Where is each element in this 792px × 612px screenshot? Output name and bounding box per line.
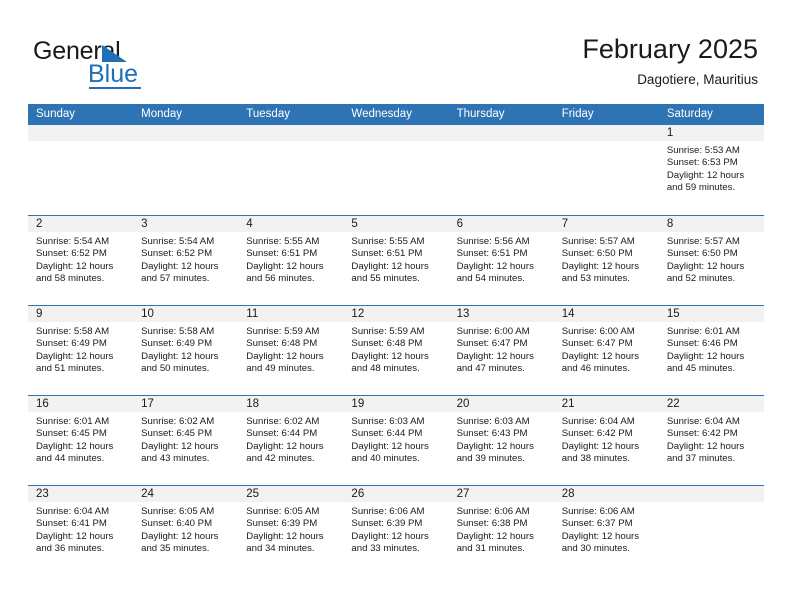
sunrise-text: Sunrise: 6:06 AM — [562, 506, 653, 518]
sunset-text: Sunset: 6:46 PM — [667, 338, 758, 350]
day-cell[interactable]: 12Sunrise: 5:59 AMSunset: 6:48 PMDayligh… — [343, 306, 448, 395]
daylight-text: Daylight: 12 hours and 56 minutes. — [246, 261, 337, 286]
day-number: 1 — [659, 125, 764, 141]
sunset-text: Sunset: 6:48 PM — [351, 338, 442, 350]
daylight-text: Daylight: 12 hours and 47 minutes. — [457, 351, 548, 376]
sunrise-text: Sunrise: 6:02 AM — [141, 416, 232, 428]
sunset-text: Sunset: 6:52 PM — [36, 248, 127, 260]
sunrise-text: Sunrise: 6:00 AM — [457, 326, 548, 338]
day-number — [554, 125, 659, 141]
day-number: 17 — [133, 396, 238, 412]
day-details: Sunrise: 5:59 AMSunset: 6:48 PMDaylight:… — [343, 322, 448, 376]
sunset-text: Sunset: 6:51 PM — [457, 248, 548, 260]
day-details: Sunrise: 6:02 AMSunset: 6:44 PMDaylight:… — [238, 412, 343, 466]
sunrise-text: Sunrise: 5:55 AM — [246, 236, 337, 248]
sunrise-text: Sunrise: 6:04 AM — [36, 506, 127, 518]
day-details: Sunrise: 6:01 AMSunset: 6:46 PMDaylight:… — [659, 322, 764, 376]
sunset-text: Sunset: 6:50 PM — [667, 248, 758, 260]
sunset-text: Sunset: 6:44 PM — [246, 428, 337, 440]
day-cell[interactable]: 18Sunrise: 6:02 AMSunset: 6:44 PMDayligh… — [238, 396, 343, 485]
daylight-text: Daylight: 12 hours and 59 minutes. — [667, 170, 758, 195]
day-number: 20 — [449, 396, 554, 412]
sunrise-text: Sunrise: 6:03 AM — [351, 416, 442, 428]
day-number — [343, 125, 448, 141]
day-number: 9 — [28, 306, 133, 322]
day-details: Sunrise: 5:54 AMSunset: 6:52 PMDaylight:… — [28, 232, 133, 286]
day-number: 14 — [554, 306, 659, 322]
sunrise-text: Sunrise: 5:54 AM — [36, 236, 127, 248]
day-number: 3 — [133, 216, 238, 232]
day-details: Sunrise: 5:58 AMSunset: 6:49 PMDaylight:… — [133, 322, 238, 376]
day-details: Sunrise: 6:06 AMSunset: 6:38 PMDaylight:… — [449, 502, 554, 556]
weekday-monday: Monday — [133, 104, 238, 125]
sunrise-text: Sunrise: 6:06 AM — [457, 506, 548, 518]
day-cell[interactable]: 5Sunrise: 5:55 AMSunset: 6:51 PMDaylight… — [343, 216, 448, 305]
day-details: Sunrise: 5:55 AMSunset: 6:51 PMDaylight:… — [343, 232, 448, 286]
sunrise-text: Sunrise: 6:04 AM — [667, 416, 758, 428]
sunrise-text: Sunrise: 5:57 AM — [667, 236, 758, 248]
day-cell[interactable]: 27Sunrise: 6:06 AMSunset: 6:38 PMDayligh… — [449, 486, 554, 575]
sunset-text: Sunset: 6:37 PM — [562, 518, 653, 530]
daylight-text: Daylight: 12 hours and 35 minutes. — [141, 531, 232, 556]
day-cell[interactable]: 26Sunrise: 6:06 AMSunset: 6:39 PMDayligh… — [343, 486, 448, 575]
daylight-text: Daylight: 12 hours and 37 minutes. — [667, 441, 758, 466]
daylight-text: Daylight: 12 hours and 43 minutes. — [141, 441, 232, 466]
daylight-text: Daylight: 12 hours and 52 minutes. — [667, 261, 758, 286]
week-row: 2Sunrise: 5:54 AMSunset: 6:52 PMDaylight… — [28, 215, 764, 305]
calendar-page: General Blue February 2025 Dagotiere, Ma… — [0, 0, 792, 612]
sunrise-text: Sunrise: 5:58 AM — [36, 326, 127, 338]
day-cell[interactable]: 10Sunrise: 5:58 AMSunset: 6:49 PMDayligh… — [133, 306, 238, 395]
day-details: Sunrise: 6:02 AMSunset: 6:45 PMDaylight:… — [133, 412, 238, 466]
sunset-text: Sunset: 6:49 PM — [141, 338, 232, 350]
day-cell[interactable]: 1Sunrise: 5:53 AMSunset: 6:53 PMDaylight… — [659, 125, 764, 214]
day-details: Sunrise: 5:54 AMSunset: 6:52 PMDaylight:… — [133, 232, 238, 286]
sunrise-text: Sunrise: 6:01 AM — [36, 416, 127, 428]
week-row: 16Sunrise: 6:01 AMSunset: 6:45 PMDayligh… — [28, 395, 764, 485]
sunset-text: Sunset: 6:39 PM — [246, 518, 337, 530]
daylight-text: Daylight: 12 hours and 34 minutes. — [246, 531, 337, 556]
sunrise-text: Sunrise: 5:59 AM — [351, 326, 442, 338]
day-cell[interactable]: 14Sunrise: 6:00 AMSunset: 6:47 PMDayligh… — [554, 306, 659, 395]
day-details: Sunrise: 5:55 AMSunset: 6:51 PMDaylight:… — [238, 232, 343, 286]
day-cell[interactable]: 3Sunrise: 5:54 AMSunset: 6:52 PMDaylight… — [133, 216, 238, 305]
day-number — [28, 125, 133, 141]
sunrise-text: Sunrise: 6:05 AM — [141, 506, 232, 518]
daylight-text: Daylight: 12 hours and 57 minutes. — [141, 261, 232, 286]
sunset-text: Sunset: 6:51 PM — [246, 248, 337, 260]
daylight-text: Daylight: 12 hours and 36 minutes. — [36, 531, 127, 556]
day-number: 22 — [659, 396, 764, 412]
day-cell-empty — [449, 125, 554, 214]
day-cell-empty — [554, 125, 659, 214]
page-title: February 2025 — [582, 34, 758, 65]
day-number: 7 — [554, 216, 659, 232]
day-details: Sunrise: 6:00 AMSunset: 6:47 PMDaylight:… — [449, 322, 554, 376]
day-number: 15 — [659, 306, 764, 322]
day-number: 25 — [238, 486, 343, 502]
sunrise-text: Sunrise: 6:01 AM — [667, 326, 758, 338]
daylight-text: Daylight: 12 hours and 48 minutes. — [351, 351, 442, 376]
daylight-text: Daylight: 12 hours and 58 minutes. — [36, 261, 127, 286]
weekday-sunday: Sunday — [28, 104, 133, 125]
day-cell[interactable]: 15Sunrise: 6:01 AMSunset: 6:46 PMDayligh… — [659, 306, 764, 395]
week-row: 9Sunrise: 5:58 AMSunset: 6:49 PMDaylight… — [28, 305, 764, 395]
sunset-text: Sunset: 6:45 PM — [36, 428, 127, 440]
daylight-text: Daylight: 12 hours and 45 minutes. — [667, 351, 758, 376]
sunset-text: Sunset: 6:42 PM — [562, 428, 653, 440]
day-number: 8 — [659, 216, 764, 232]
daylight-text: Daylight: 12 hours and 38 minutes. — [562, 441, 653, 466]
sunset-text: Sunset: 6:38 PM — [457, 518, 548, 530]
day-details: Sunrise: 5:59 AMSunset: 6:48 PMDaylight:… — [238, 322, 343, 376]
day-number: 2 — [28, 216, 133, 232]
day-cell-empty — [343, 125, 448, 214]
sunrise-text: Sunrise: 5:54 AM — [141, 236, 232, 248]
sunset-text: Sunset: 6:50 PM — [562, 248, 653, 260]
day-number: 23 — [28, 486, 133, 502]
daylight-text: Daylight: 12 hours and 46 minutes. — [562, 351, 653, 376]
sunrise-text: Sunrise: 5:57 AM — [562, 236, 653, 248]
sunrise-text: Sunrise: 5:56 AM — [457, 236, 548, 248]
sunset-text: Sunset: 6:52 PM — [141, 248, 232, 260]
day-cell[interactable]: 20Sunrise: 6:03 AMSunset: 6:43 PMDayligh… — [449, 396, 554, 485]
daylight-text: Daylight: 12 hours and 33 minutes. — [351, 531, 442, 556]
day-number — [133, 125, 238, 141]
day-cell[interactable]: 6Sunrise: 5:56 AMSunset: 6:51 PMDaylight… — [449, 216, 554, 305]
calendar-weeks: 1Sunrise: 5:53 AMSunset: 6:53 PMDaylight… — [28, 125, 764, 575]
sunset-text: Sunset: 6:49 PM — [36, 338, 127, 350]
day-cell[interactable]: 28Sunrise: 6:06 AMSunset: 6:37 PMDayligh… — [554, 486, 659, 575]
sunset-text: Sunset: 6:53 PM — [667, 157, 758, 169]
day-details: Sunrise: 5:58 AMSunset: 6:49 PMDaylight:… — [28, 322, 133, 376]
day-cell[interactable]: 4Sunrise: 5:55 AMSunset: 6:51 PMDaylight… — [238, 216, 343, 305]
sunset-text: Sunset: 6:39 PM — [351, 518, 442, 530]
daylight-text: Daylight: 12 hours and 44 minutes. — [36, 441, 127, 466]
day-cell-empty — [659, 486, 764, 575]
day-details: Sunrise: 6:03 AMSunset: 6:44 PMDaylight:… — [343, 412, 448, 466]
day-details: Sunrise: 6:05 AMSunset: 6:40 PMDaylight:… — [133, 502, 238, 556]
day-details: Sunrise: 6:06 AMSunset: 6:37 PMDaylight:… — [554, 502, 659, 556]
sunset-text: Sunset: 6:47 PM — [562, 338, 653, 350]
sunset-text: Sunset: 6:48 PM — [246, 338, 337, 350]
sunrise-text: Sunrise: 6:04 AM — [562, 416, 653, 428]
day-cell[interactable]: 8Sunrise: 5:57 AMSunset: 6:50 PMDaylight… — [659, 216, 764, 305]
logo-text-blue: Blue — [88, 61, 138, 87]
daylight-text: Daylight: 12 hours and 53 minutes. — [562, 261, 653, 286]
day-number: 27 — [449, 486, 554, 502]
day-number: 16 — [28, 396, 133, 412]
weekday-friday: Friday — [554, 104, 659, 125]
day-cell[interactable]: 23Sunrise: 6:04 AMSunset: 6:41 PMDayligh… — [28, 486, 133, 575]
day-cell[interactable]: 19Sunrise: 6:03 AMSunset: 6:44 PMDayligh… — [343, 396, 448, 485]
day-details: Sunrise: 6:04 AMSunset: 6:42 PMDaylight:… — [659, 412, 764, 466]
sunset-text: Sunset: 6:43 PM — [457, 428, 548, 440]
day-cell[interactable]: 2Sunrise: 5:54 AMSunset: 6:52 PMDaylight… — [28, 216, 133, 305]
sunset-text: Sunset: 6:40 PM — [141, 518, 232, 530]
sunrise-text: Sunrise: 6:00 AM — [562, 326, 653, 338]
daylight-text: Daylight: 12 hours and 30 minutes. — [562, 531, 653, 556]
daylight-text: Daylight: 12 hours and 39 minutes. — [457, 441, 548, 466]
day-details: Sunrise: 6:00 AMSunset: 6:47 PMDaylight:… — [554, 322, 659, 376]
weekday-saturday: Saturday — [659, 104, 764, 125]
day-number: 12 — [343, 306, 448, 322]
day-number: 24 — [133, 486, 238, 502]
day-cell[interactable]: 16Sunrise: 6:01 AMSunset: 6:45 PMDayligh… — [28, 396, 133, 485]
day-details: Sunrise: 6:03 AMSunset: 6:43 PMDaylight:… — [449, 412, 554, 466]
sunset-text: Sunset: 6:42 PM — [667, 428, 758, 440]
daylight-text: Daylight: 12 hours and 49 minutes. — [246, 351, 337, 376]
day-details: Sunrise: 6:06 AMSunset: 6:39 PMDaylight:… — [343, 502, 448, 556]
day-number: 11 — [238, 306, 343, 322]
day-details: Sunrise: 5:56 AMSunset: 6:51 PMDaylight:… — [449, 232, 554, 286]
day-details: Sunrise: 6:04 AMSunset: 6:41 PMDaylight:… — [28, 502, 133, 556]
day-number: 6 — [449, 216, 554, 232]
day-cell[interactable]: 9Sunrise: 5:58 AMSunset: 6:49 PMDaylight… — [28, 306, 133, 395]
daylight-text: Daylight: 12 hours and 50 minutes. — [141, 351, 232, 376]
daylight-text: Daylight: 12 hours and 51 minutes. — [36, 351, 127, 376]
daylight-text: Daylight: 12 hours and 31 minutes. — [457, 531, 548, 556]
day-details: Sunrise: 6:05 AMSunset: 6:39 PMDaylight:… — [238, 502, 343, 556]
weekday-wednesday: Wednesday — [343, 104, 448, 125]
generalblue-logo[interactable]: General Blue — [33, 38, 233, 90]
day-cell[interactable]: 13Sunrise: 6:00 AMSunset: 6:47 PMDayligh… — [449, 306, 554, 395]
title-block: February 2025 Dagotiere, Mauritius — [582, 34, 758, 88]
sunrise-text: Sunrise: 5:58 AM — [141, 326, 232, 338]
logo-underline — [89, 87, 141, 89]
day-number: 28 — [554, 486, 659, 502]
weekday-header-row: Sunday Monday Tuesday Wednesday Thursday… — [28, 104, 764, 125]
sunset-text: Sunset: 6:47 PM — [457, 338, 548, 350]
sunrise-text: Sunrise: 5:59 AM — [246, 326, 337, 338]
weekday-thursday: Thursday — [449, 104, 554, 125]
day-cell[interactable]: 17Sunrise: 6:02 AMSunset: 6:45 PMDayligh… — [133, 396, 238, 485]
day-cell[interactable]: 21Sunrise: 6:04 AMSunset: 6:42 PMDayligh… — [554, 396, 659, 485]
week-row: 1Sunrise: 5:53 AMSunset: 6:53 PMDaylight… — [28, 125, 764, 215]
daylight-text: Daylight: 12 hours and 55 minutes. — [351, 261, 442, 286]
sunset-text: Sunset: 6:45 PM — [141, 428, 232, 440]
sunrise-text: Sunrise: 6:05 AM — [246, 506, 337, 518]
day-details: Sunrise: 5:53 AMSunset: 6:53 PMDaylight:… — [659, 141, 764, 195]
day-cell[interactable]: 7Sunrise: 5:57 AMSunset: 6:50 PMDaylight… — [554, 216, 659, 305]
page-header: General Blue February 2025 Dagotiere, Ma… — [0, 0, 792, 104]
day-number: 4 — [238, 216, 343, 232]
day-number: 19 — [343, 396, 448, 412]
day-cell[interactable]: 25Sunrise: 6:05 AMSunset: 6:39 PMDayligh… — [238, 486, 343, 575]
day-number: 26 — [343, 486, 448, 502]
day-number: 10 — [133, 306, 238, 322]
day-number — [659, 486, 764, 502]
day-number — [449, 125, 554, 141]
calendar-grid: Sunday Monday Tuesday Wednesday Thursday… — [28, 104, 764, 575]
weekday-tuesday: Tuesday — [238, 104, 343, 125]
sunrise-text: Sunrise: 5:53 AM — [667, 145, 758, 157]
sunrise-text: Sunrise: 6:02 AM — [246, 416, 337, 428]
day-details: Sunrise: 5:57 AMSunset: 6:50 PMDaylight:… — [554, 232, 659, 286]
sunset-text: Sunset: 6:51 PM — [351, 248, 442, 260]
day-cell[interactable]: 11Sunrise: 5:59 AMSunset: 6:48 PMDayligh… — [238, 306, 343, 395]
day-cell[interactable]: 24Sunrise: 6:05 AMSunset: 6:40 PMDayligh… — [133, 486, 238, 575]
sunset-text: Sunset: 6:41 PM — [36, 518, 127, 530]
day-cell-empty — [28, 125, 133, 214]
day-cell-empty — [238, 125, 343, 214]
day-number: 18 — [238, 396, 343, 412]
sunset-text: Sunset: 6:44 PM — [351, 428, 442, 440]
day-cell[interactable]: 22Sunrise: 6:04 AMSunset: 6:42 PMDayligh… — [659, 396, 764, 485]
sunrise-text: Sunrise: 5:55 AM — [351, 236, 442, 248]
day-details: Sunrise: 5:57 AMSunset: 6:50 PMDaylight:… — [659, 232, 764, 286]
daylight-text: Daylight: 12 hours and 54 minutes. — [457, 261, 548, 286]
sunrise-text: Sunrise: 6:06 AM — [351, 506, 442, 518]
day-number: 13 — [449, 306, 554, 322]
day-details: Sunrise: 6:04 AMSunset: 6:42 PMDaylight:… — [554, 412, 659, 466]
day-number: 21 — [554, 396, 659, 412]
page-subtitle: Dagotiere, Mauritius — [582, 71, 758, 88]
day-details: Sunrise: 6:01 AMSunset: 6:45 PMDaylight:… — [28, 412, 133, 466]
day-number — [238, 125, 343, 141]
daylight-text: Daylight: 12 hours and 40 minutes. — [351, 441, 442, 466]
daylight-text: Daylight: 12 hours and 42 minutes. — [246, 441, 337, 466]
sunrise-text: Sunrise: 6:03 AM — [457, 416, 548, 428]
week-row: 23Sunrise: 6:04 AMSunset: 6:41 PMDayligh… — [28, 485, 764, 575]
day-number: 5 — [343, 216, 448, 232]
day-cell-empty — [133, 125, 238, 214]
